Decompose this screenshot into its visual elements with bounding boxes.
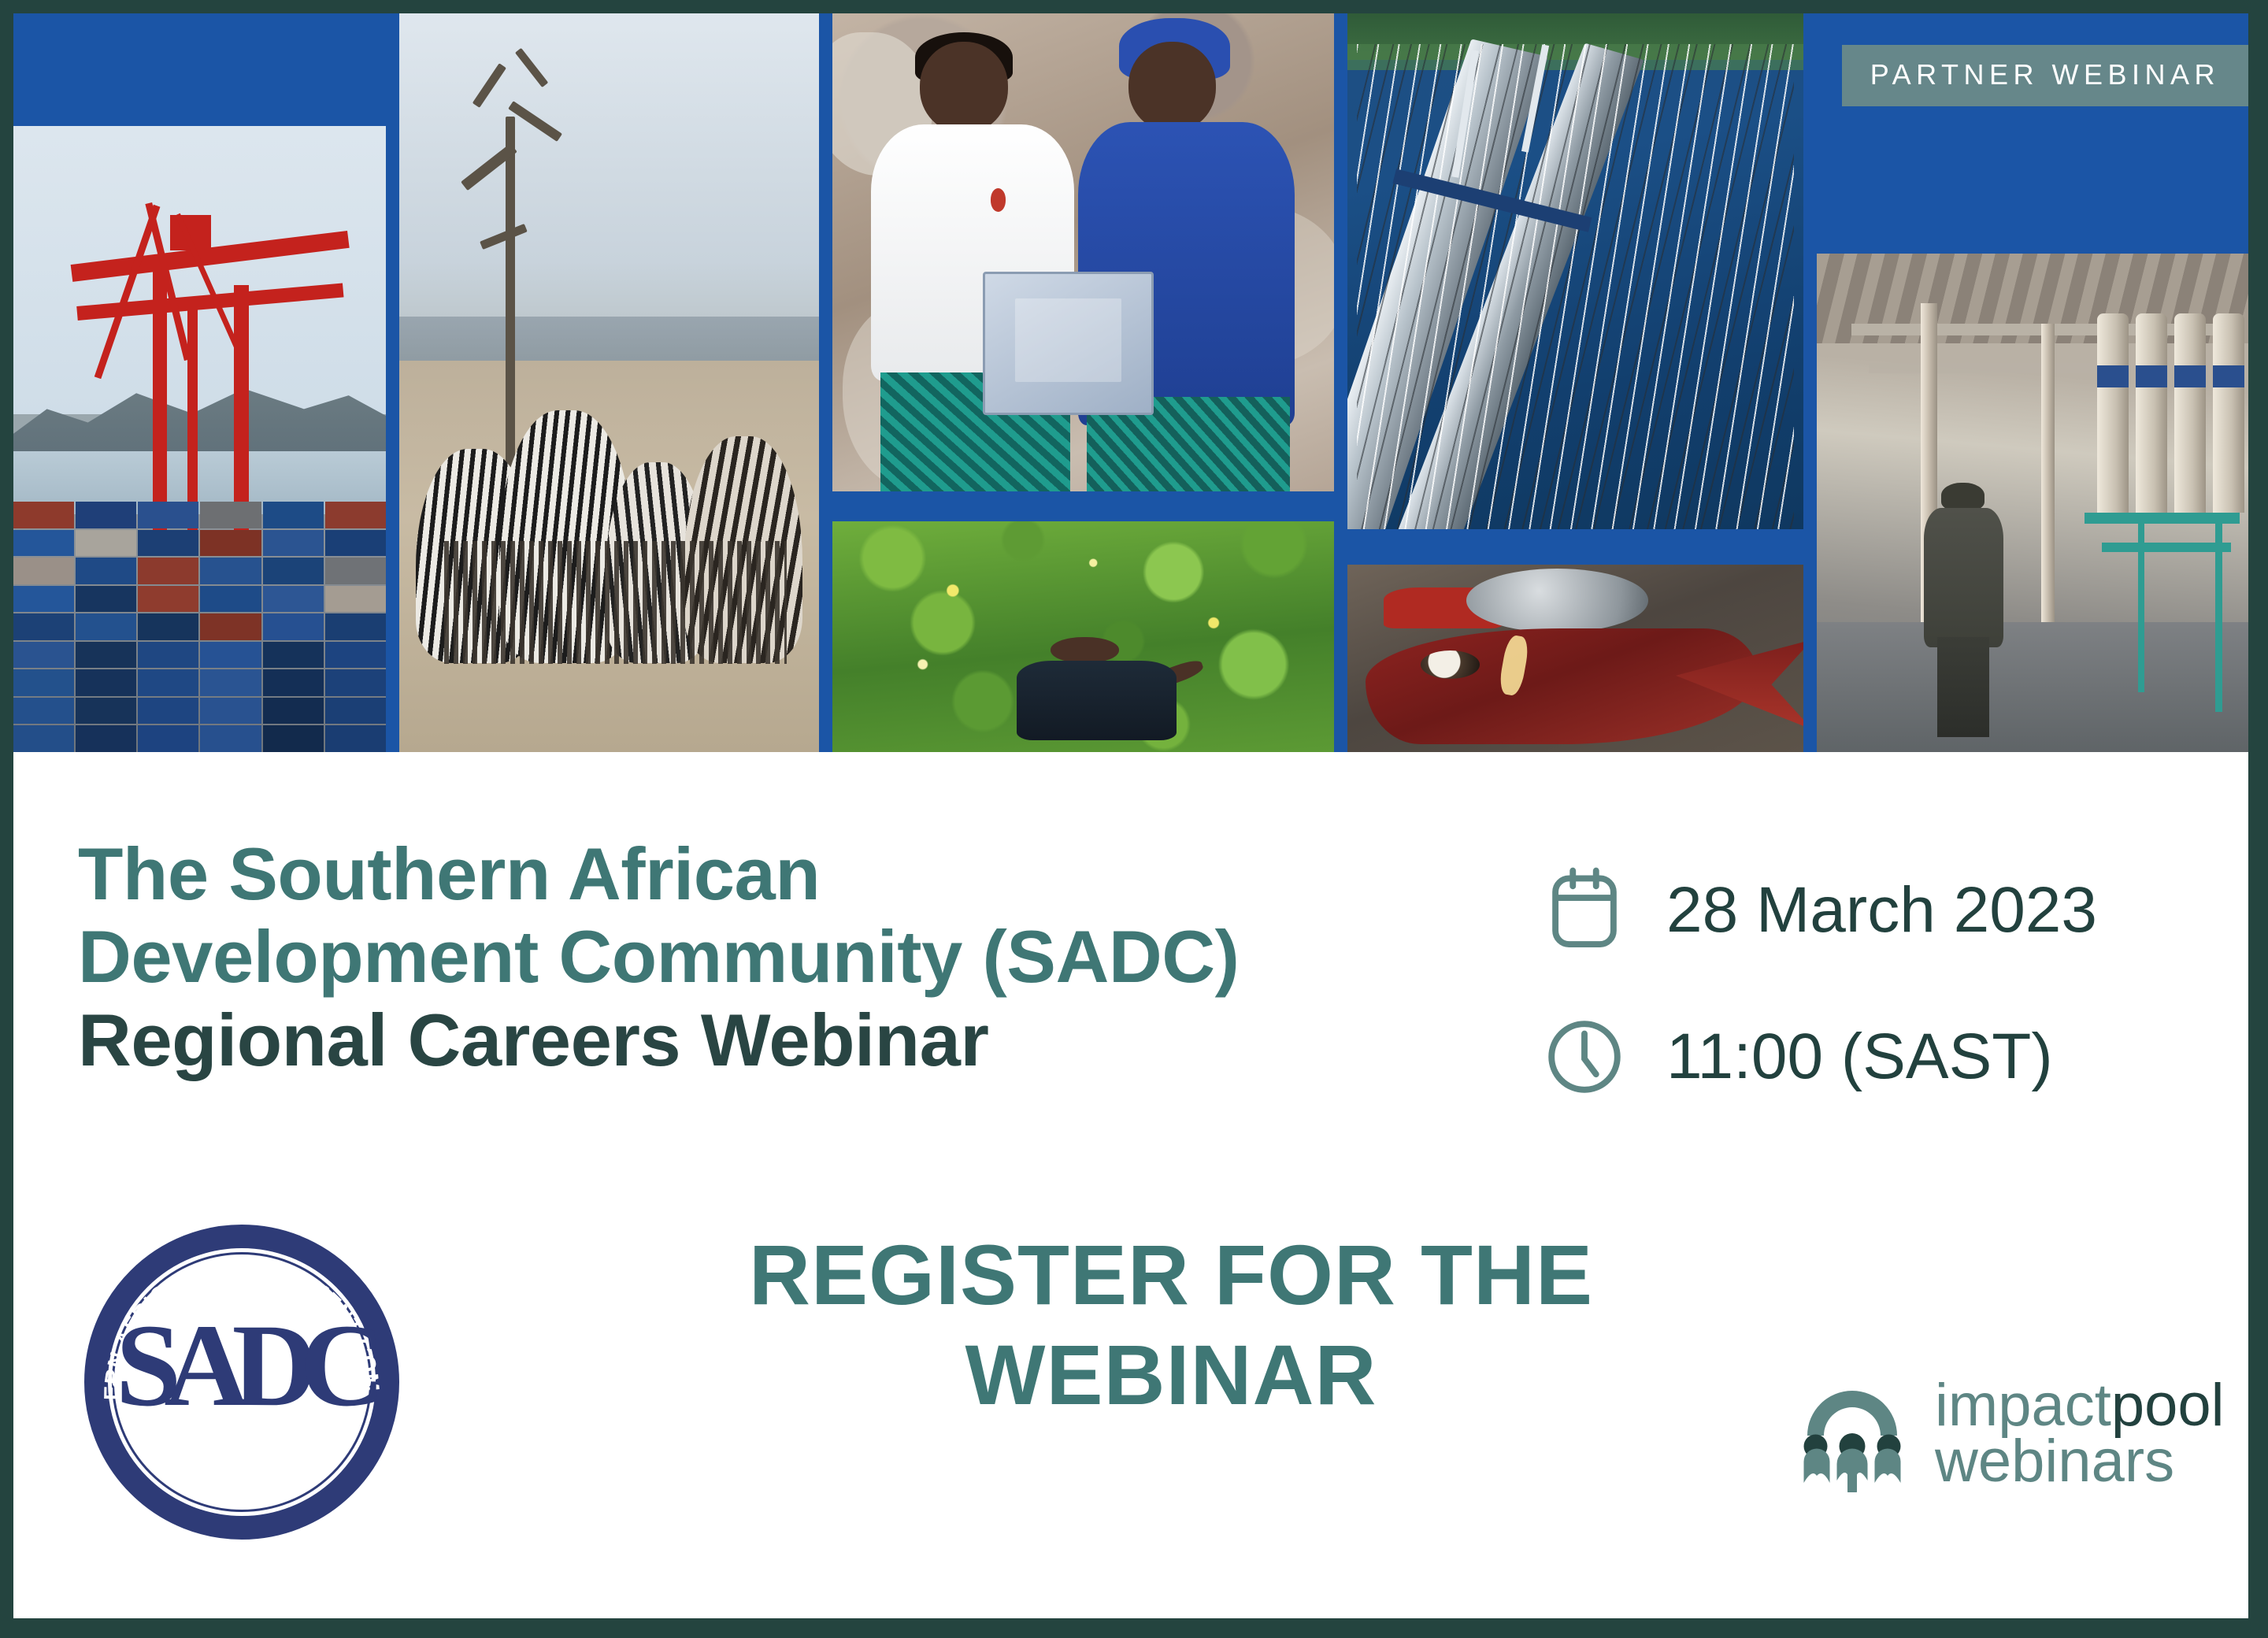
event-meta: 28 March 2023 11:00 (SAST) — [1529, 837, 2097, 1130]
event-date-row: 28 March 2023 — [1529, 837, 2097, 984]
port-containers-photo — [13, 126, 386, 752]
event-time-value: 11:00 (SAST) — [1640, 1020, 2053, 1094]
title-line-1: The Southern African — [78, 832, 1417, 915]
impactpool-word: impactpool — [1935, 1377, 2225, 1433]
collage-column-5 — [1817, 13, 2248, 752]
collage-column-4 — [1347, 13, 1803, 752]
title-line-3: Regional Careers Webinar — [78, 999, 1417, 1081]
fish-market-photo — [1347, 565, 1803, 752]
impactpool-wordmark: impactpool webinars — [1935, 1377, 2225, 1490]
students-laptop-photo — [832, 13, 1334, 491]
collage-column-1 — [13, 13, 386, 752]
zebras-savanna-photo — [399, 13, 819, 752]
partner-webinar-badge: PARTNER WEBINAR — [1842, 45, 2248, 106]
calendar-icon — [1529, 864, 1640, 957]
sadc-monogram: SADC — [84, 1306, 399, 1425]
collage-column-2 — [399, 13, 819, 752]
impactpool-people-icon — [1793, 1374, 1911, 1492]
cta-line-1: REGISTER FOR THE — [612, 1225, 1730, 1325]
impactpool-webinars-logo: impactpool webinars — [1793, 1374, 2225, 1492]
register-cta[interactable]: REGISTER FOR THE WEBINAR — [612, 1225, 1730, 1425]
cable-bridge-photo — [1347, 13, 1803, 529]
cta-line-2: WEBINAR — [612, 1325, 1730, 1425]
page-title: The Southern African Development Communi… — [78, 832, 1417, 1081]
collage-column-3 — [832, 13, 1334, 752]
farmer-field-photo — [832, 521, 1334, 752]
webinars-word: webinars — [1935, 1433, 2225, 1489]
webinar-promo-poster: PARTNER WEBINAR The Southern African Dev… — [0, 0, 2268, 1638]
title-line-2: Development Community (SADC) — [78, 915, 1417, 998]
event-date-value: 28 March 2023 — [1640, 873, 2097, 947]
clock-icon — [1529, 1010, 1640, 1103]
info-panel: The Southern African Development Communi… — [13, 752, 2248, 1618]
sadc-logo: SOUTHERN AFRICAN DEVELOPMENT COMMUNITY T… — [84, 1225, 399, 1540]
event-time-row: 11:00 (SAST) — [1529, 984, 2097, 1130]
mill-interior-photo — [1817, 254, 2248, 752]
photo-collage: PARTNER WEBINAR — [13, 13, 2248, 752]
